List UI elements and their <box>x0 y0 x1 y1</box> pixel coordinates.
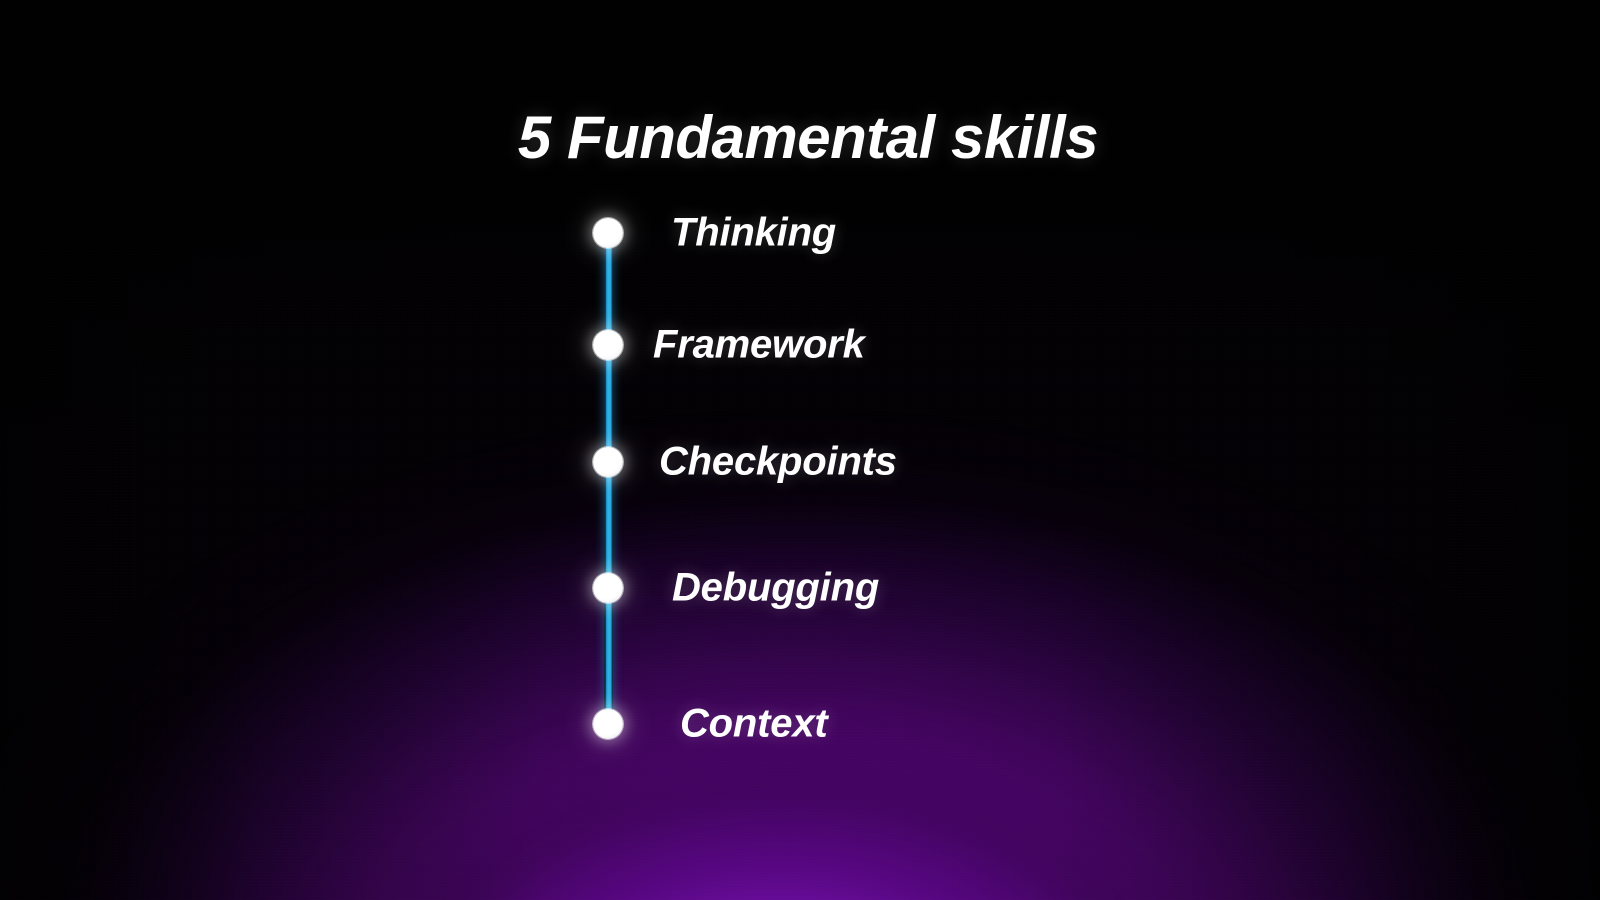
skills-timeline: ThinkingFrameworkCheckpointsDebuggingCon… <box>0 0 1600 900</box>
timeline-node-label: Framework <box>653 323 865 368</box>
timeline-node[interactable]: Framework <box>593 330 623 360</box>
timeline-dot-icon <box>593 330 623 360</box>
timeline-node[interactable]: Debugging <box>593 573 623 603</box>
timeline-track <box>604 233 613 724</box>
timeline-node-label: Checkpoints <box>659 440 897 485</box>
timeline-node[interactable]: Checkpoints <box>593 447 623 477</box>
timeline-node-label: Debugging <box>672 566 879 611</box>
timeline-dot-icon <box>593 573 623 603</box>
timeline-node[interactable]: Context <box>593 709 623 739</box>
slide-canvas: 5 Fundamental skills ThinkingFrameworkCh… <box>0 0 1600 900</box>
timeline-node[interactable]: Thinking <box>593 218 623 248</box>
timeline-dot-icon <box>593 218 623 248</box>
timeline-dot-icon <box>593 447 623 477</box>
timeline-node-label: Context <box>680 702 828 747</box>
timeline-dot-icon <box>593 709 623 739</box>
timeline-node-label: Thinking <box>671 211 836 256</box>
